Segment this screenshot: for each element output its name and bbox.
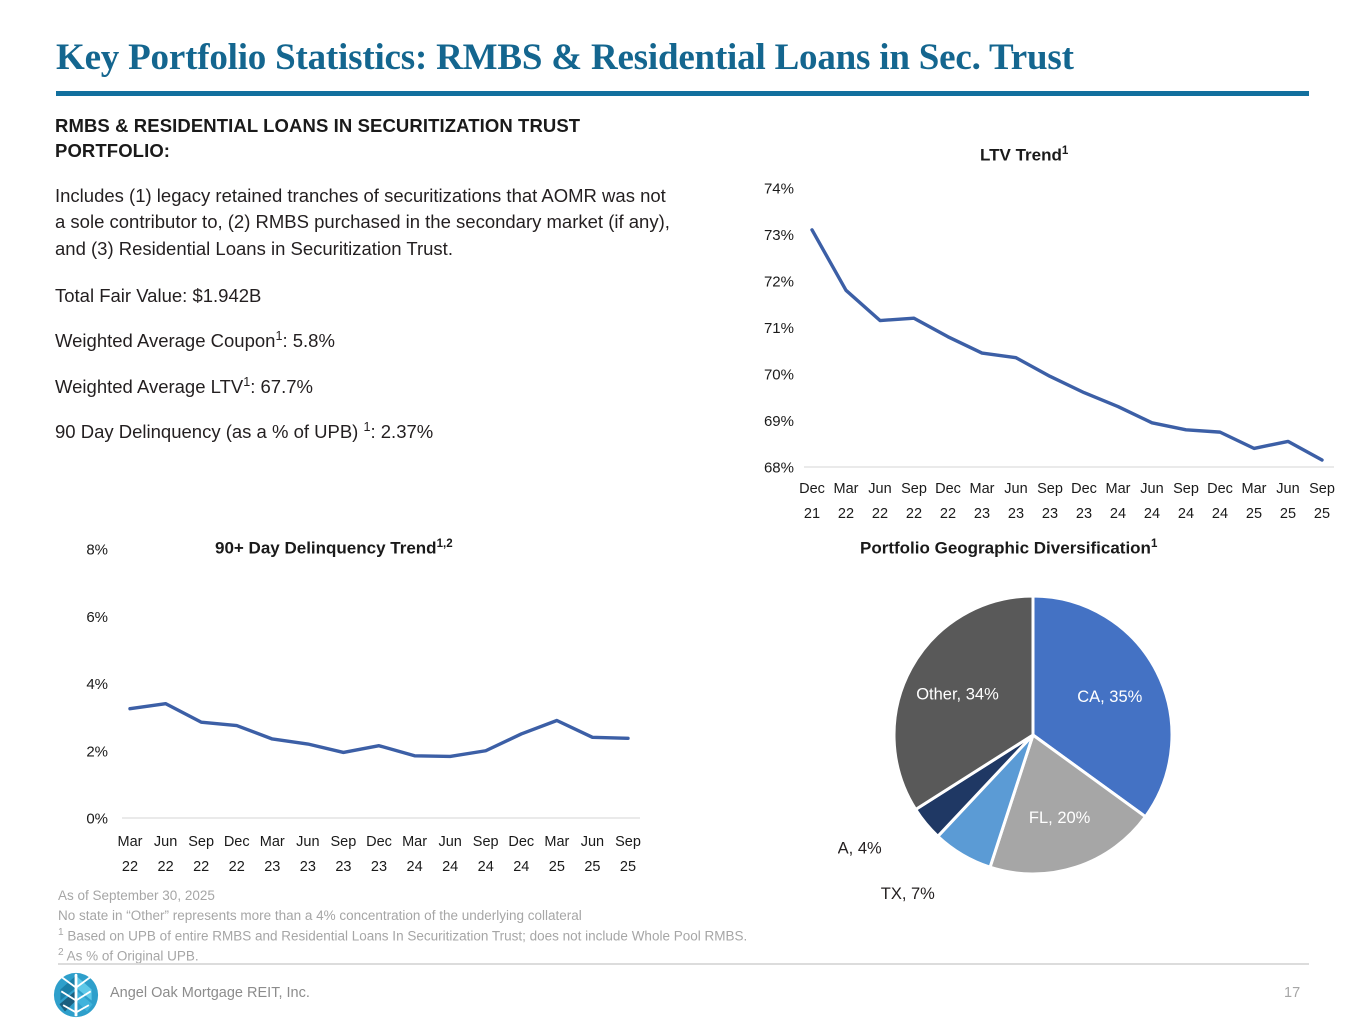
x-axis-tick-year: 23 (300, 859, 316, 875)
x-axis-tick-month: Jun (1004, 481, 1027, 497)
x-axis-tick-year: 22 (193, 859, 209, 875)
intro-paragraph: Includes (1) legacy retained tranches of… (55, 183, 675, 262)
x-axis-tick-month: Jun (296, 834, 319, 850)
x-axis-tick-year: 24 (407, 859, 423, 875)
stat-weighted-average-coupon-label: Weighted Average Coupon (55, 330, 275, 351)
x-axis-tick-year: 22 (906, 506, 922, 522)
y-axis-tick-label: 70% (764, 367, 794, 384)
page-number: 17 (1284, 985, 1300, 1001)
x-axis-tick-month: Sep (473, 834, 499, 850)
stat-weighted-average-coupon: Weighted Average Coupon1: 5.8% (55, 328, 675, 354)
footnote-1-text: Based on UPB of entire RMBS and Resident… (64, 928, 748, 943)
angel-oak-logo-icon (53, 972, 99, 1018)
y-axis-tick-label: 68% (764, 460, 794, 477)
data-series-line (130, 704, 628, 757)
x-axis-tick-month: Dec (224, 834, 250, 850)
page-title: Key Portfolio Statistics: RMBS & Residen… (56, 36, 1074, 79)
footnote-2-text: As % of Original UPB. (64, 949, 199, 964)
y-axis-tick-label: 72% (764, 274, 794, 291)
x-axis-tick-month: Dec (799, 481, 825, 497)
stat-total-fair-value-text: Total Fair Value: $1.942B (55, 285, 261, 306)
x-axis-tick-year: 24 (513, 859, 529, 875)
x-axis-tick-month: Jun (1276, 481, 1299, 497)
x-axis-tick-year: 22 (838, 506, 854, 522)
y-axis-tick-label: 2% (86, 743, 108, 760)
pie-label-other: Other, 34% (916, 685, 999, 703)
ltv-trend-chart: LTV Trend1 68%69%70%71%72%73%74%Dec21Mar… (730, 135, 1340, 530)
x-axis-tick-year: 25 (584, 859, 600, 875)
stat-weighted-average-ltv-label: Weighted Average LTV (55, 376, 243, 397)
x-axis-tick-month: Sep (1173, 481, 1199, 497)
x-axis-tick-year: 24 (1110, 506, 1126, 522)
x-axis-tick-year: 23 (1008, 506, 1024, 522)
x-axis-tick-year: 23 (371, 859, 387, 875)
x-axis-tick-month: Dec (1071, 481, 1097, 497)
x-axis-tick-year: 23 (264, 859, 280, 875)
delinquency-trend-chart: 90+ Day Delinquency Trend1,2 0%2%4%6%8%M… (50, 530, 670, 880)
x-axis-tick-year: 24 (1178, 506, 1194, 522)
x-axis-tick-month: Sep (331, 834, 357, 850)
stat-90-day-delinquency: 90 Day Delinquency (as a % of UPB) 1: 2.… (55, 419, 675, 445)
pie-chart-svg: CA, 35%FL, 20%TX, 7%GA, 4%Other, 34% (838, 530, 1338, 905)
y-axis-tick-label: 69% (764, 413, 794, 430)
y-axis-tick-label: 4% (86, 676, 108, 693)
data-series-line (812, 230, 1322, 460)
ltv-chart-svg: 68%69%70%71%72%73%74%Dec21Mar22Jun22Sep2… (730, 135, 1340, 530)
portfolio-description-block: RMBS & RESIDENTIAL LOANS IN SECURITIZATI… (55, 114, 675, 465)
x-axis-tick-month: Jun (868, 481, 891, 497)
x-axis-tick-month: Dec (508, 834, 534, 850)
x-axis-tick-month: Mar (260, 834, 285, 850)
x-axis-tick-year: 24 (1212, 506, 1228, 522)
x-axis-tick-year: 25 (1246, 506, 1262, 522)
x-axis-tick-year: 22 (229, 859, 245, 875)
x-axis-tick-month: Dec (1207, 481, 1233, 497)
stat-weighted-average-ltv: Weighted Average LTV1: 67.7% (55, 374, 675, 400)
x-axis-tick-year: 23 (335, 859, 351, 875)
x-axis-tick-month: Mar (544, 834, 569, 850)
pie-label-fl: FL, 20% (1029, 809, 1091, 827)
footer-company-name: Angel Oak Mortgage REIT, Inc. (110, 985, 310, 1001)
x-axis-tick-month: Sep (615, 834, 641, 850)
pie-label-ca: CA, 35% (1077, 688, 1142, 706)
y-axis-tick-label: 73% (764, 227, 794, 244)
stat-weighted-average-ltv-value: : 67.7% (250, 376, 313, 397)
x-axis-tick-year: 23 (1076, 506, 1092, 522)
x-axis-tick-year: 22 (122, 859, 138, 875)
x-axis-tick-year: 25 (1280, 506, 1296, 522)
x-axis-tick-year: 25 (620, 859, 636, 875)
x-axis-tick-year: 24 (478, 859, 494, 875)
x-axis-tick-year: 22 (940, 506, 956, 522)
x-axis-tick-month: Jun (438, 834, 461, 850)
x-axis-tick-month: Mar (118, 834, 143, 850)
section-kicker: RMBS & RESIDENTIAL LOANS IN SECURITIZATI… (55, 114, 675, 163)
x-axis-tick-year: 22 (158, 859, 174, 875)
y-axis-tick-label: 0% (86, 811, 108, 828)
x-axis-tick-month: Sep (188, 834, 214, 850)
footnote-1: 1 Based on UPB of entire RMBS and Reside… (58, 926, 958, 946)
x-axis-tick-year: 23 (1042, 506, 1058, 522)
y-axis-tick-label: 6% (86, 609, 108, 626)
x-axis-tick-month: Sep (1309, 481, 1335, 497)
x-axis-tick-month: Mar (1242, 481, 1267, 497)
x-axis-tick-month: Dec (366, 834, 392, 850)
x-axis-tick-month: Mar (970, 481, 995, 497)
x-axis-tick-year: 23 (974, 506, 990, 522)
x-axis-tick-year: 21 (804, 506, 820, 522)
pie-label-ga: GA, 4% (838, 839, 882, 857)
x-axis-tick-month: Jun (581, 834, 604, 850)
x-axis-tick-year: 22 (872, 506, 888, 522)
footnote-other-concentration: No state in “Other” represents more than… (58, 906, 958, 926)
y-axis-tick-label: 74% (764, 181, 794, 198)
x-axis-tick-month: Sep (1037, 481, 1063, 497)
geographic-diversification-chart: Portfolio Geographic Diversification1 CA… (838, 530, 1338, 905)
x-axis-tick-month: Jun (154, 834, 177, 850)
x-axis-tick-month: Mar (834, 481, 859, 497)
stat-weighted-average-coupon-value: : 5.8% (282, 330, 334, 351)
x-axis-tick-month: Jun (1140, 481, 1163, 497)
y-axis-tick-label: 71% (764, 320, 794, 337)
x-axis-tick-year: 25 (1314, 506, 1330, 522)
x-axis-tick-year: 25 (549, 859, 565, 875)
x-axis-tick-month: Dec (935, 481, 961, 497)
footer-divider (58, 963, 1309, 965)
footnote-as-of-date: As of September 30, 2025 (58, 886, 958, 906)
x-axis-tick-month: Mar (1106, 481, 1131, 497)
x-axis-tick-month: Sep (901, 481, 927, 497)
footnotes-block: As of September 30, 2025 No state in “Ot… (58, 886, 958, 967)
stat-90-day-delinquency-value: : 2.37% (370, 421, 433, 442)
x-axis-tick-month: Mar (402, 834, 427, 850)
delinquency-chart-svg: 0%2%4%6%8%Mar22Jun22Sep22Dec22Mar23Jun23… (50, 530, 670, 880)
title-divider (56, 91, 1309, 96)
stat-total-fair-value: Total Fair Value: $1.942B (55, 283, 675, 309)
x-axis-tick-year: 24 (1144, 506, 1160, 522)
x-axis-tick-year: 24 (442, 859, 458, 875)
y-axis-tick-label: 8% (86, 542, 108, 559)
stat-90-day-delinquency-label: 90 Day Delinquency (as a % of UPB) (55, 421, 363, 442)
